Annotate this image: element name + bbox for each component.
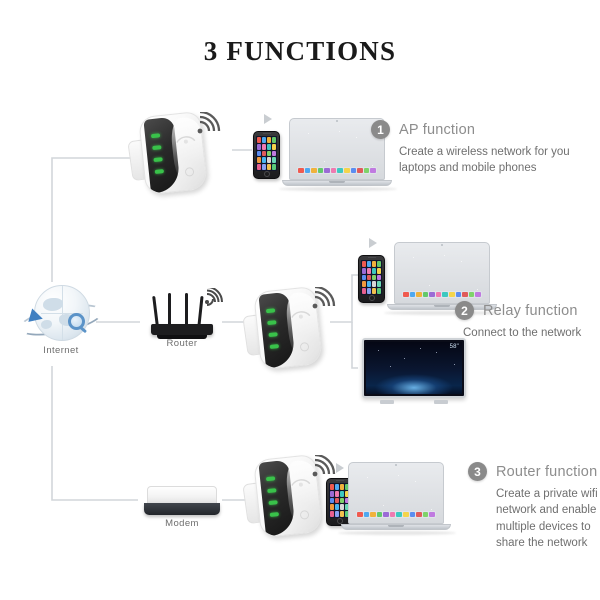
wifi-signal-icon [203,288,227,308]
wifi-repeater-ap [128,106,220,198]
function-title: AP function [399,122,475,138]
modem-label: Modem [139,518,225,529]
node-router: Router [139,288,225,360]
tv-size-badge: 58" [450,344,459,350]
function-block-2: 2 Relay function Connect to the network [455,301,600,341]
smartphone-icon [358,255,385,303]
router-label: Router [139,338,225,349]
function-title: Router function [496,464,597,480]
modem-icon [147,486,217,504]
function-block-3: 3 Router function Create a private wifi … [468,462,600,551]
diagram-canvas: 3 FUNCTIONS [0,0,600,600]
wifi-repeater-relay [243,281,335,373]
magnifier-icon [68,313,85,330]
smartphone-icon [253,131,280,179]
television-icon: 58" [362,338,466,398]
wifi-signal-icon [196,112,226,138]
function-block-1: 1 AP function Create a wireless network … [371,120,586,177]
function-number-badge: 2 [455,301,474,320]
flow-arrow-icon [369,238,377,248]
flow-arrow-icon [264,114,272,124]
repeater-face-wifi-icon [289,472,313,490]
node-internet: Internet [18,283,104,363]
function-number-badge: 3 [468,462,487,481]
repeater-face-wifi-icon [289,304,313,322]
function-description: Create a private wifi network and enable… [496,486,600,551]
flow-arrow-icon [336,463,344,473]
internet-label: Internet [18,345,104,356]
function-description: Create a wireless network for you laptop… [399,144,586,177]
repeater-face-wifi-icon [174,129,198,147]
router-icon [151,324,213,335]
wifi-repeater-router [243,449,335,541]
function-description: Connect to the network [463,325,600,341]
node-modem: Modem [139,480,225,536]
wifi-signal-icon [311,287,341,313]
function-number-badge: 1 [371,120,390,139]
function-title: Relay function [483,303,578,319]
